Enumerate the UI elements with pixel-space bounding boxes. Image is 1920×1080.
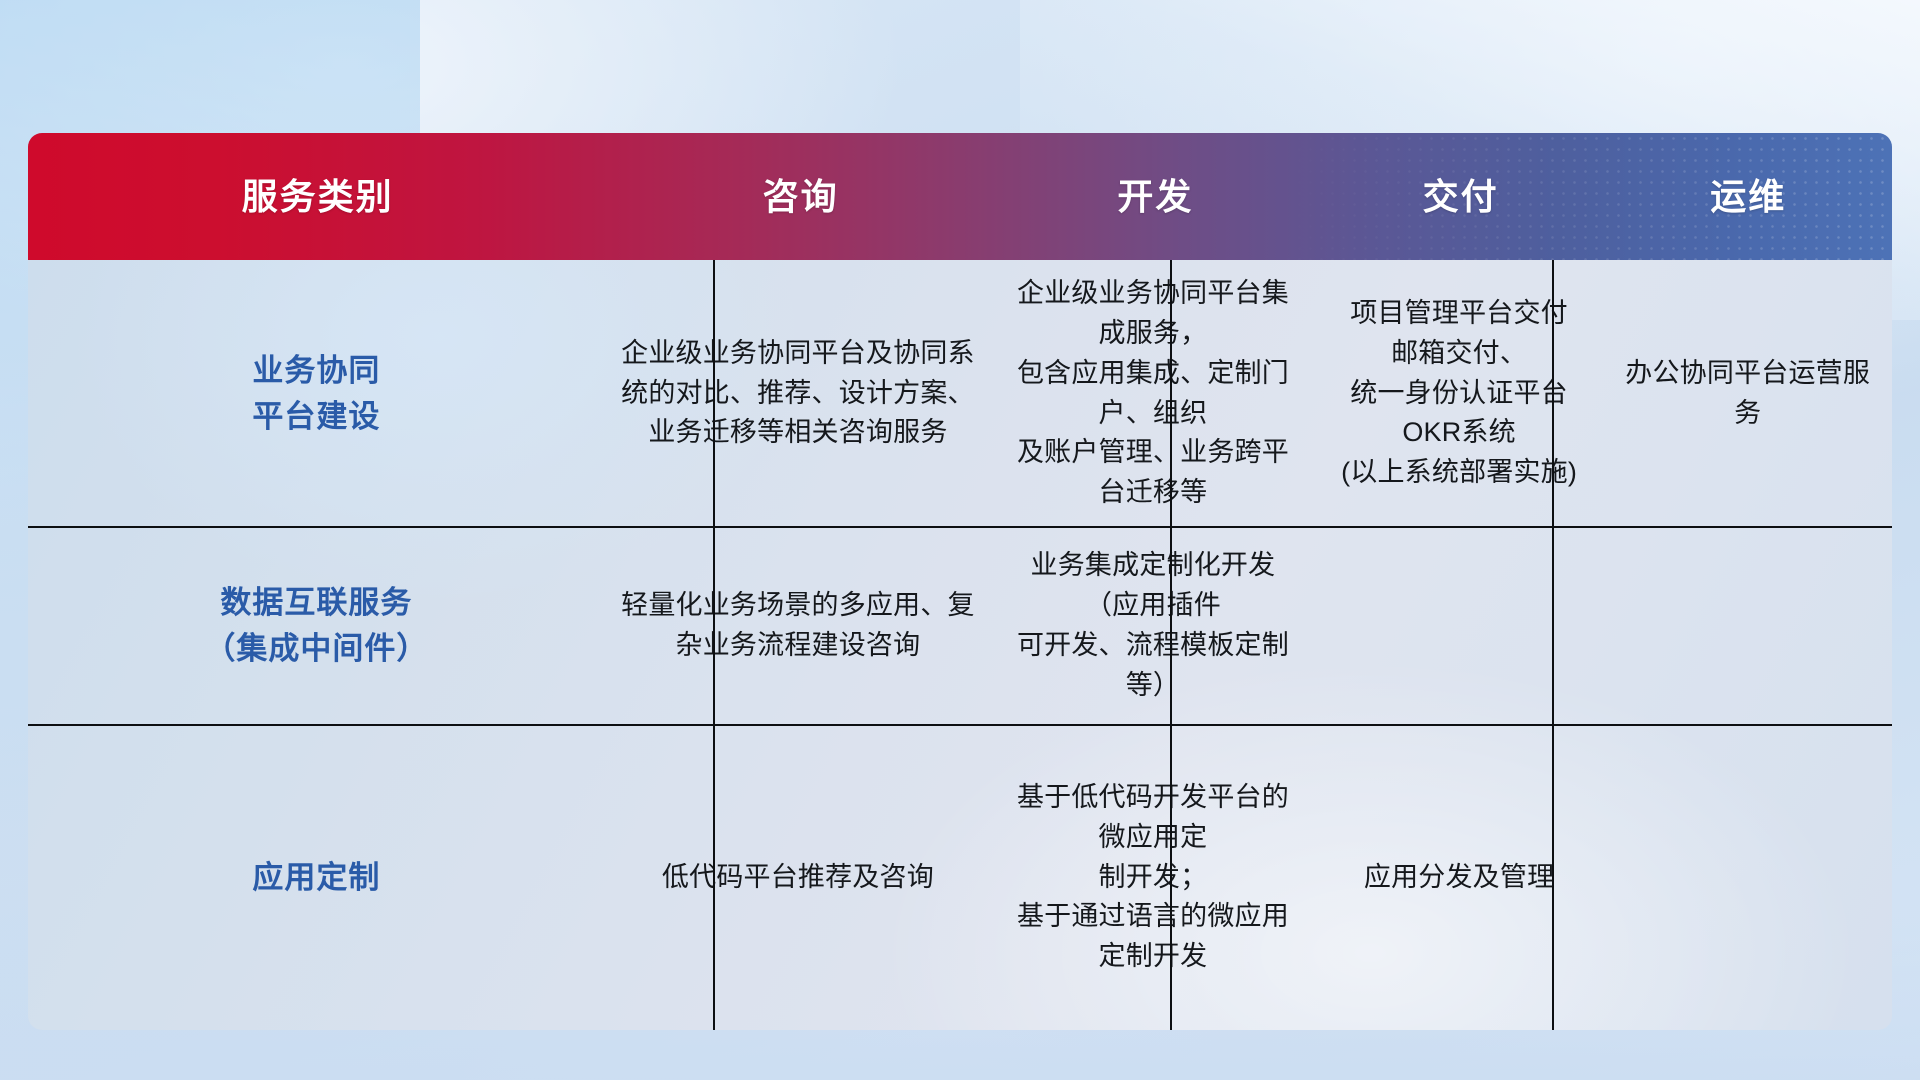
cell-operations xyxy=(1603,527,1892,725)
table-row: 业务协同平台建设 企业级业务协同平台及协同系统的对比、推荐、设计方案、业务迁移等… xyxy=(28,260,1892,527)
column-header-development: 开发 xyxy=(994,133,1317,260)
cell-consulting: 企业级业务协同平台及协同系统的对比、推荐、设计方案、业务迁移等相关咨询服务 xyxy=(605,260,991,527)
table-row: 应用定制 低代码平台推荐及咨询 基于低代码开发平台的微应用定制开发；基于通过语言… xyxy=(28,725,1892,1030)
cell-delivery xyxy=(1315,527,1604,725)
cell-consulting: 轻量化业务场景的多应用、复杂业务流程建设咨询 xyxy=(605,527,991,725)
cell-delivery: 项目管理平台交付邮箱交付、统一身份认证平台OKR系统(以上系统部署实施) xyxy=(1315,260,1604,527)
cell-operations xyxy=(1603,725,1892,1030)
service-matrix-table: 服务类别 咨询 开发 交付 运维 业务协同平台建设 企业级业务协同平台及协同系统… xyxy=(28,133,1892,1030)
column-header-category: 服务类别 xyxy=(28,133,607,260)
row-divider xyxy=(28,724,1892,726)
row-divider xyxy=(28,526,1892,528)
table-body: 业务协同平台建设 企业级业务协同平台及协同系统的对比、推荐、设计方案、业务迁移等… xyxy=(28,260,1892,1030)
row-category-label: 业务协同平台建设 xyxy=(28,260,605,527)
cell-development: 企业级业务协同平台集成服务，包含应用集成、定制门户、组织及账户管理、业务跨平台迁… xyxy=(991,260,1315,527)
column-header-operations: 运维 xyxy=(1604,133,1892,260)
column-divider xyxy=(713,260,715,1030)
cell-development: 基于低代码开发平台的微应用定制开发；基于通过语言的微应用定制开发 xyxy=(991,725,1315,1030)
row-category-label: 数据互联服务（集成中间件） xyxy=(28,527,605,725)
row-category-label: 应用定制 xyxy=(28,725,605,1030)
cell-operations: 办公协同平台运营服务 xyxy=(1603,260,1892,527)
column-divider xyxy=(1170,260,1172,1030)
cell-delivery: 应用分发及管理 xyxy=(1315,725,1604,1030)
column-header-delivery: 交付 xyxy=(1317,133,1605,260)
cell-consulting: 低代码平台推荐及咨询 xyxy=(605,725,991,1030)
column-divider xyxy=(1552,260,1554,1030)
cell-development: 业务集成定制化开发（应用插件可开发、流程模板定制等） xyxy=(991,527,1315,725)
column-header-consulting: 咨询 xyxy=(607,133,994,260)
table-row: 数据互联服务（集成中间件） 轻量化业务场景的多应用、复杂业务流程建设咨询 业务集… xyxy=(28,527,1892,725)
table-header-row: 服务类别 咨询 开发 交付 运维 xyxy=(28,133,1892,260)
